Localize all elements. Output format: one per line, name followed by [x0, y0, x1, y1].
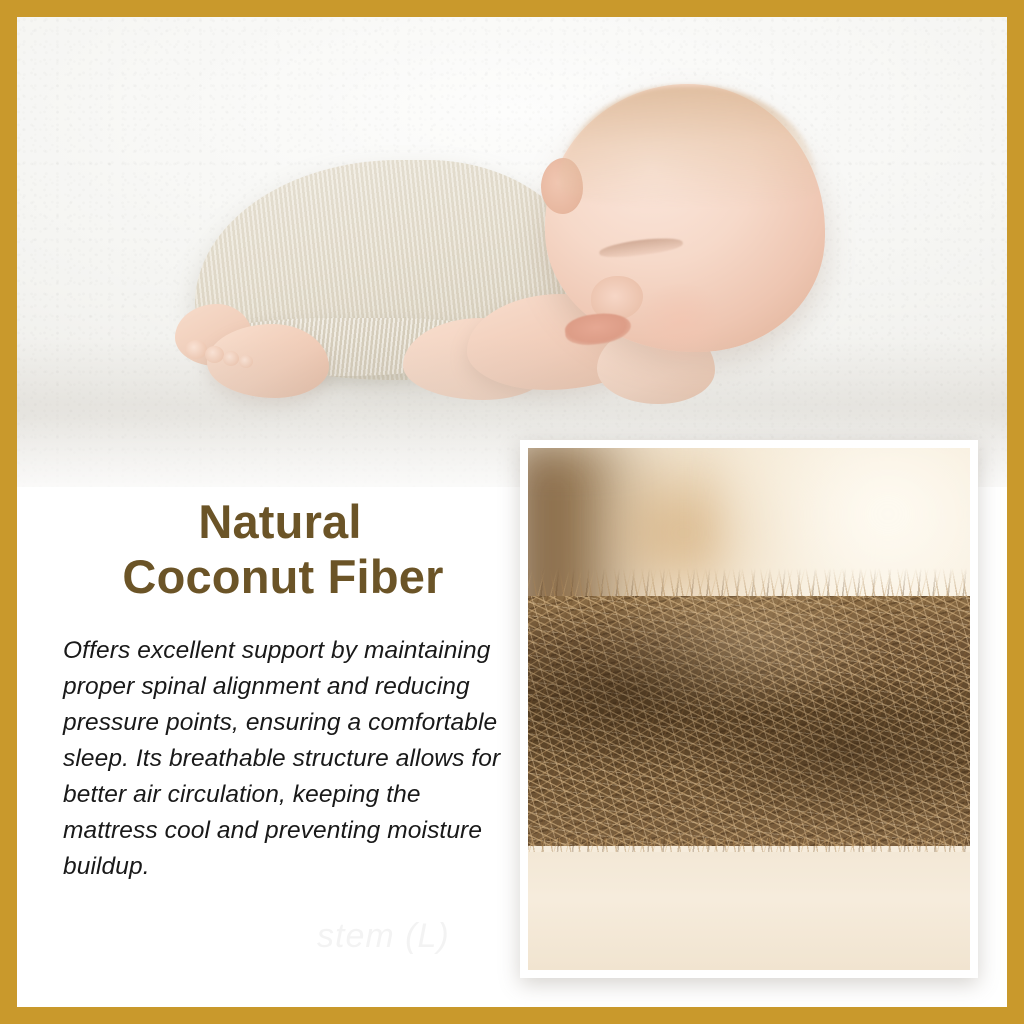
page-title: Natural Coconut Fiber [63, 495, 503, 605]
photo-foreground-surface [528, 852, 970, 970]
coconut-fiber-photo [528, 448, 970, 970]
baby-hair [559, 86, 817, 206]
description-paragraph: Offers excellent support by maintaining … [63, 633, 503, 885]
coconut-fiber-photo-card [520, 440, 978, 978]
watermark-text: stem (L) [317, 917, 450, 956]
poster-root: stem (L) Natural Coconut Fiber Offers ex… [0, 0, 1024, 1024]
content-panel: stem (L) Natural Coconut Fiber Offers ex… [17, 417, 1007, 1007]
page-title-line-1: Natural [63, 495, 503, 550]
poster-inner-panel: stem (L) Natural Coconut Fiber Offers ex… [17, 17, 1007, 1007]
page-title-line-2: Coconut Fiber [63, 550, 503, 605]
text-column: Natural Coconut Fiber Offers excellent s… [63, 495, 503, 885]
coir-fiber-slab [528, 596, 970, 846]
